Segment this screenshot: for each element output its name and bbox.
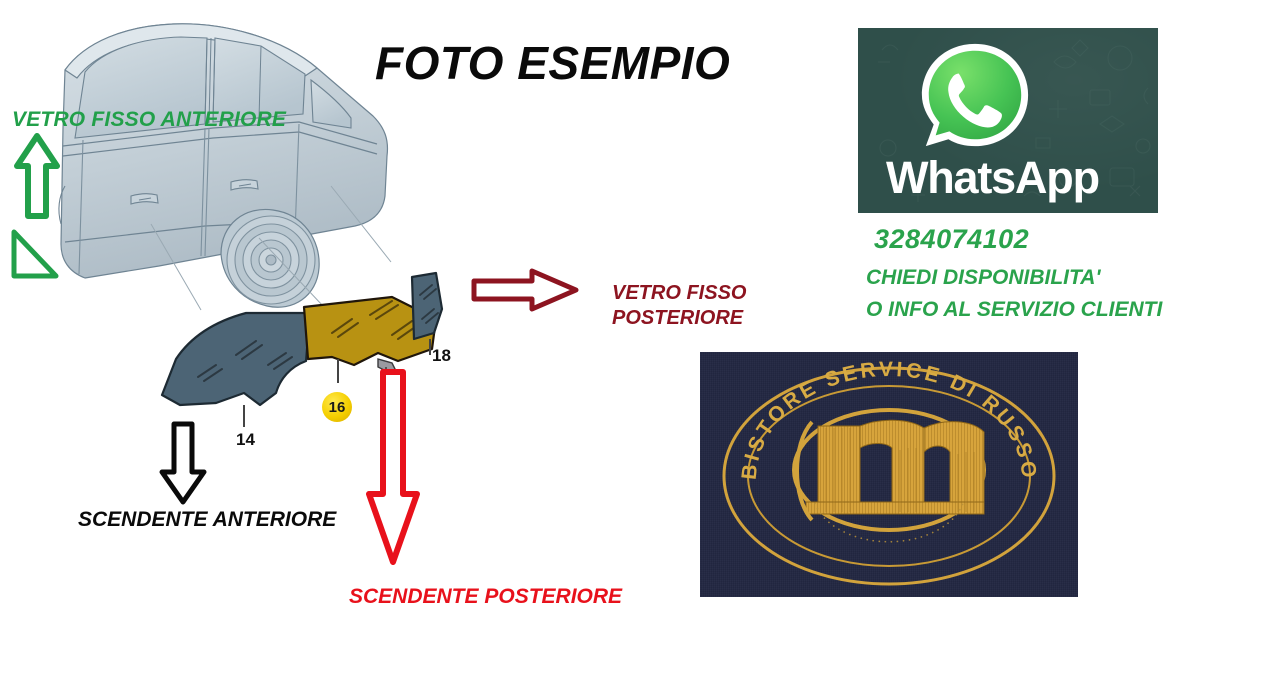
darkred-right-arrow xyxy=(470,267,580,318)
part-number-14: 14 xyxy=(236,430,255,450)
page-title: FOTO ESEMPIO xyxy=(375,36,730,90)
label-scendente-anteriore: SCENDENTE ANTERIORE xyxy=(78,508,336,532)
label-scendente-posteriore: SCENDENTE POSTERIORE xyxy=(349,585,622,609)
label-vetro-fisso-posteriore-line2: POSTERIORE xyxy=(612,306,746,331)
green-triangle-marker xyxy=(8,226,60,287)
whatsapp-logo-icon xyxy=(916,38,1034,156)
company-logo: MRICAMBISTORE SERVICE DI RUSSO MARCO • •… xyxy=(700,352,1078,597)
company-logo-artwork: MRICAMBISTORE SERVICE DI RUSSO MARCO • •… xyxy=(700,352,1078,597)
part-number-16-badge: 16 xyxy=(322,392,352,422)
label-vetro-fisso-posteriore: VETRO FISSO POSTERIORE xyxy=(612,281,746,331)
label-vetro-fisso-posteriore-line1: VETRO FISSO xyxy=(612,281,746,306)
whatsapp-wordmark: WhatsApp xyxy=(886,152,1099,204)
label-vetro-fisso-anteriore: VETRO FISSO ANTERIORE xyxy=(12,108,286,132)
glass-part-14 xyxy=(162,313,310,427)
red-down-arrow xyxy=(365,368,421,573)
green-up-arrow xyxy=(14,132,60,225)
part-number-18: 18 xyxy=(432,346,451,366)
contact-line-1: CHIEDI DISPONIBILITA' xyxy=(866,266,1100,290)
whatsapp-banner: WhatsApp xyxy=(858,28,1158,213)
black-down-arrow xyxy=(158,420,208,511)
contact-line-2: O INFO AL SERVIZIO CLIENTI xyxy=(866,298,1162,322)
phone-number[interactable]: 3284074102 xyxy=(874,224,1029,255)
